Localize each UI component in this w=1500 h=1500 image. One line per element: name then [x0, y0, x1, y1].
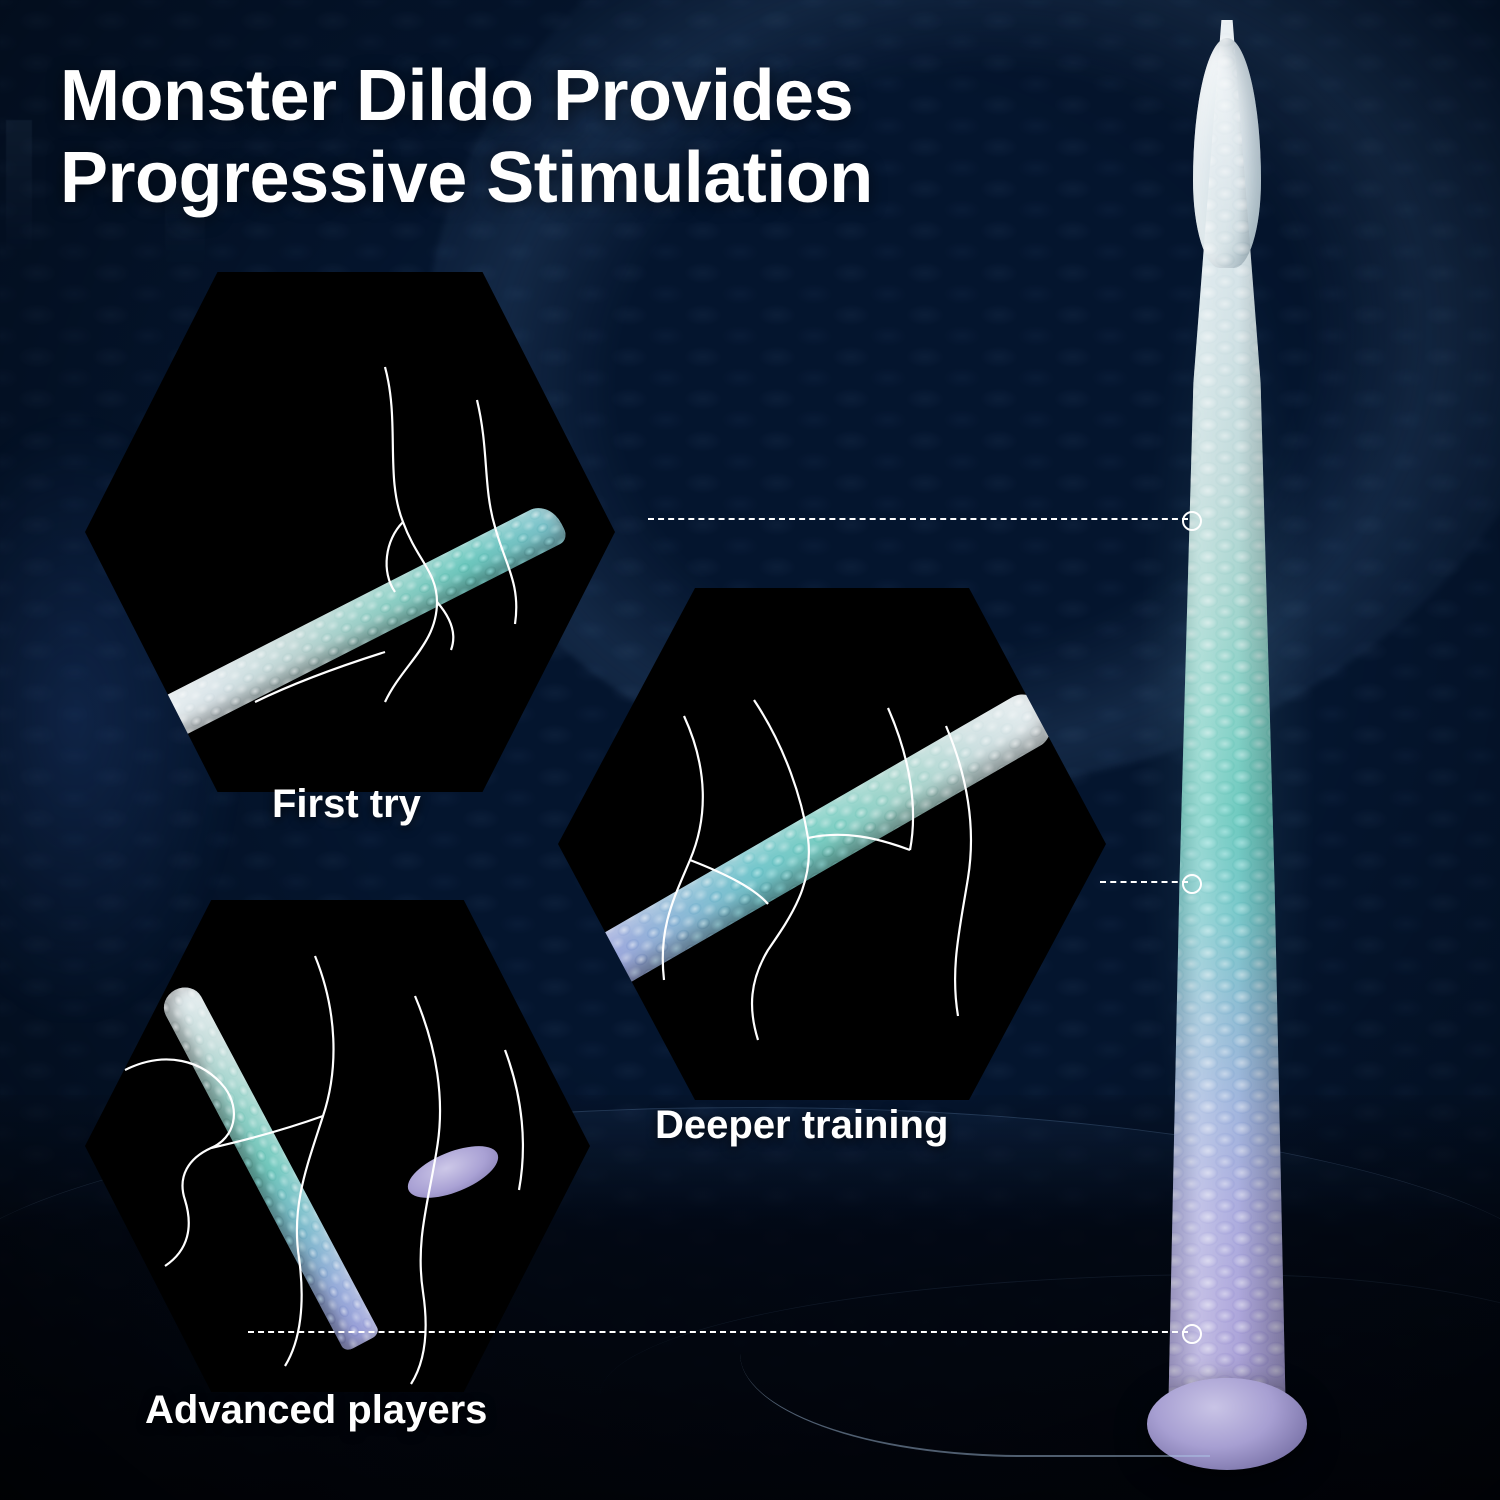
callout-dot-advanced-players [1182, 1324, 1202, 1344]
page-title: Monster Dildo Provides Progressive Stimu… [60, 55, 1180, 219]
hex-label-advanced-players: Advanced players [145, 1388, 487, 1433]
callout-line-deeper-training [1100, 881, 1188, 885]
product-suction-base [1147, 1378, 1307, 1470]
product-marketing-image: Monster Dildo Provides Progressive Stimu… [0, 0, 1500, 1500]
headline-line-1: Monster Dildo Provides [60, 56, 853, 136]
product-shading [1157, 20, 1297, 1415]
edge-artifact-strip [6, 120, 32, 250]
callout-dot-deeper-training [1182, 874, 1202, 894]
hex-label-first-try: First try [272, 782, 421, 827]
callout-line-advanced-players [248, 1331, 1188, 1335]
callout-dot-first-try [1182, 511, 1202, 531]
product-photo [1112, 20, 1342, 1480]
callout-line-first-try [648, 518, 1188, 522]
hex-label-deeper-training: Deeper training [655, 1103, 948, 1148]
headline-line-2: Progressive Stimulation [60, 137, 1180, 219]
